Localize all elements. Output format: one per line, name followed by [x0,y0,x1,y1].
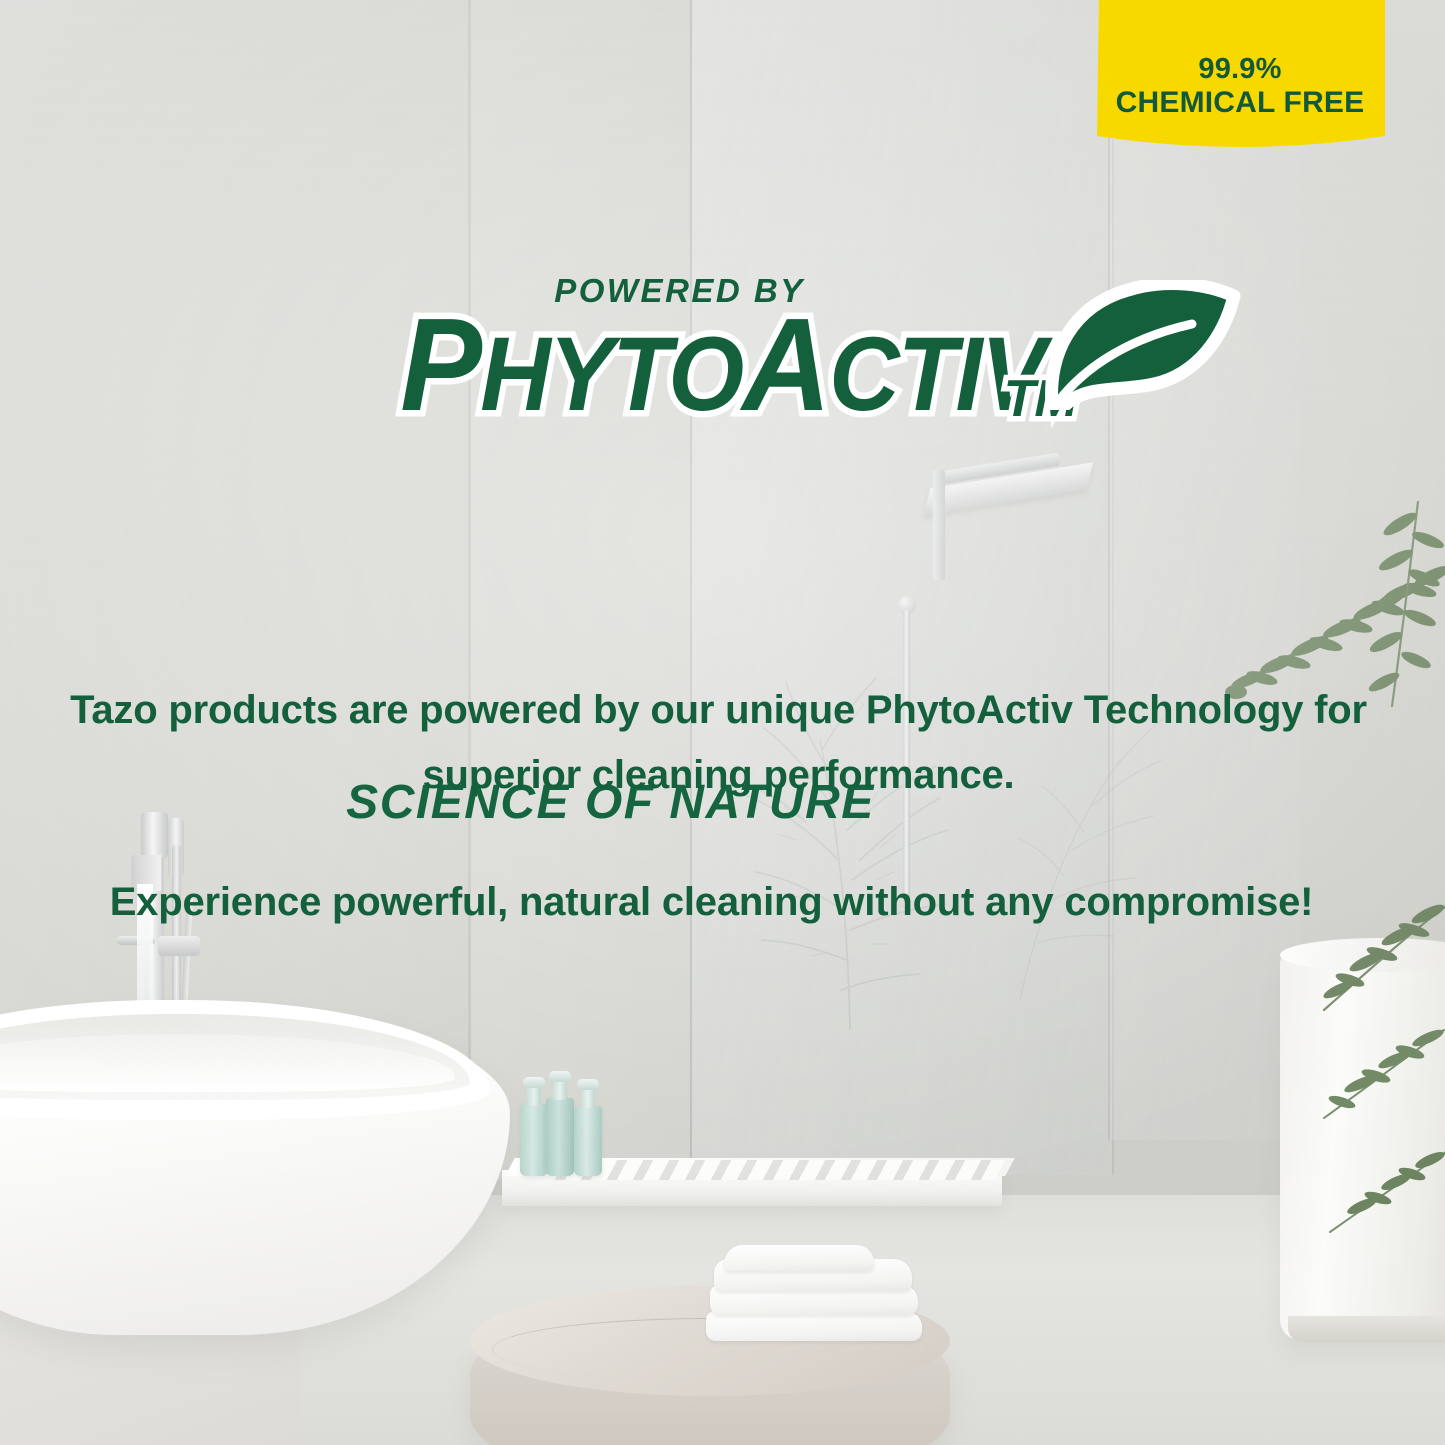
leaf-icon [1042,280,1242,410]
promo-poster: 99.9% CHEMICAL FREE POWERED BY PHYTOACTI… [0,0,1445,1445]
towel [724,1245,874,1271]
bottle-pump [577,1079,599,1090]
badge-label: CHEMICAL FREE [1095,87,1385,119]
bottle-neck [581,1088,595,1108]
wordmark-text: PHYTOACTIV [401,304,1045,425]
wordmark-p: P [401,291,481,438]
folded-towels [706,1253,922,1345]
wordmark-a: A [743,291,830,438]
bottle-neck [553,1080,567,1100]
soap-bottle [520,1104,548,1176]
phytoactiv-logo-lockup: POWERED BY PHYTOACTIV TM SCIENCE OF NATU… [0,272,1445,425]
wordmark-hyto: HYTO [481,316,743,433]
copy-paragraph-2: Experience powerful, natural cleaning wi… [0,870,1445,935]
towel [706,1311,922,1341]
chemical-free-badge: 99.9% CHEMICAL FREE [1095,0,1385,150]
handheld-shower-bracket [158,936,200,956]
body-copy: Tazo products are powered by our unique … [0,678,1445,936]
olive-planter-base [1288,1316,1445,1342]
copy-paragraph-1: Tazo products are powered by our unique … [0,678,1445,808]
mid-wall-panel [471,0,691,1180]
olive-branch-icon [1316,1020,1445,1140]
badge-text-block: 99.9% CHEMICAL FREE [1095,54,1385,120]
bottle-pump [549,1071,571,1082]
phytoactiv-wordmark: PHYTOACTIV TM [376,304,1068,425]
bottle-pump [523,1077,545,1088]
badge-percent: 99.9% [1095,54,1385,85]
soap-bottle [546,1098,574,1176]
bottle-neck [527,1086,541,1106]
olive-branch-icon [1322,1140,1445,1250]
shower-arm-vertical [933,470,945,580]
soap-bottle-group [520,1100,630,1176]
soap-bottle [574,1106,602,1176]
